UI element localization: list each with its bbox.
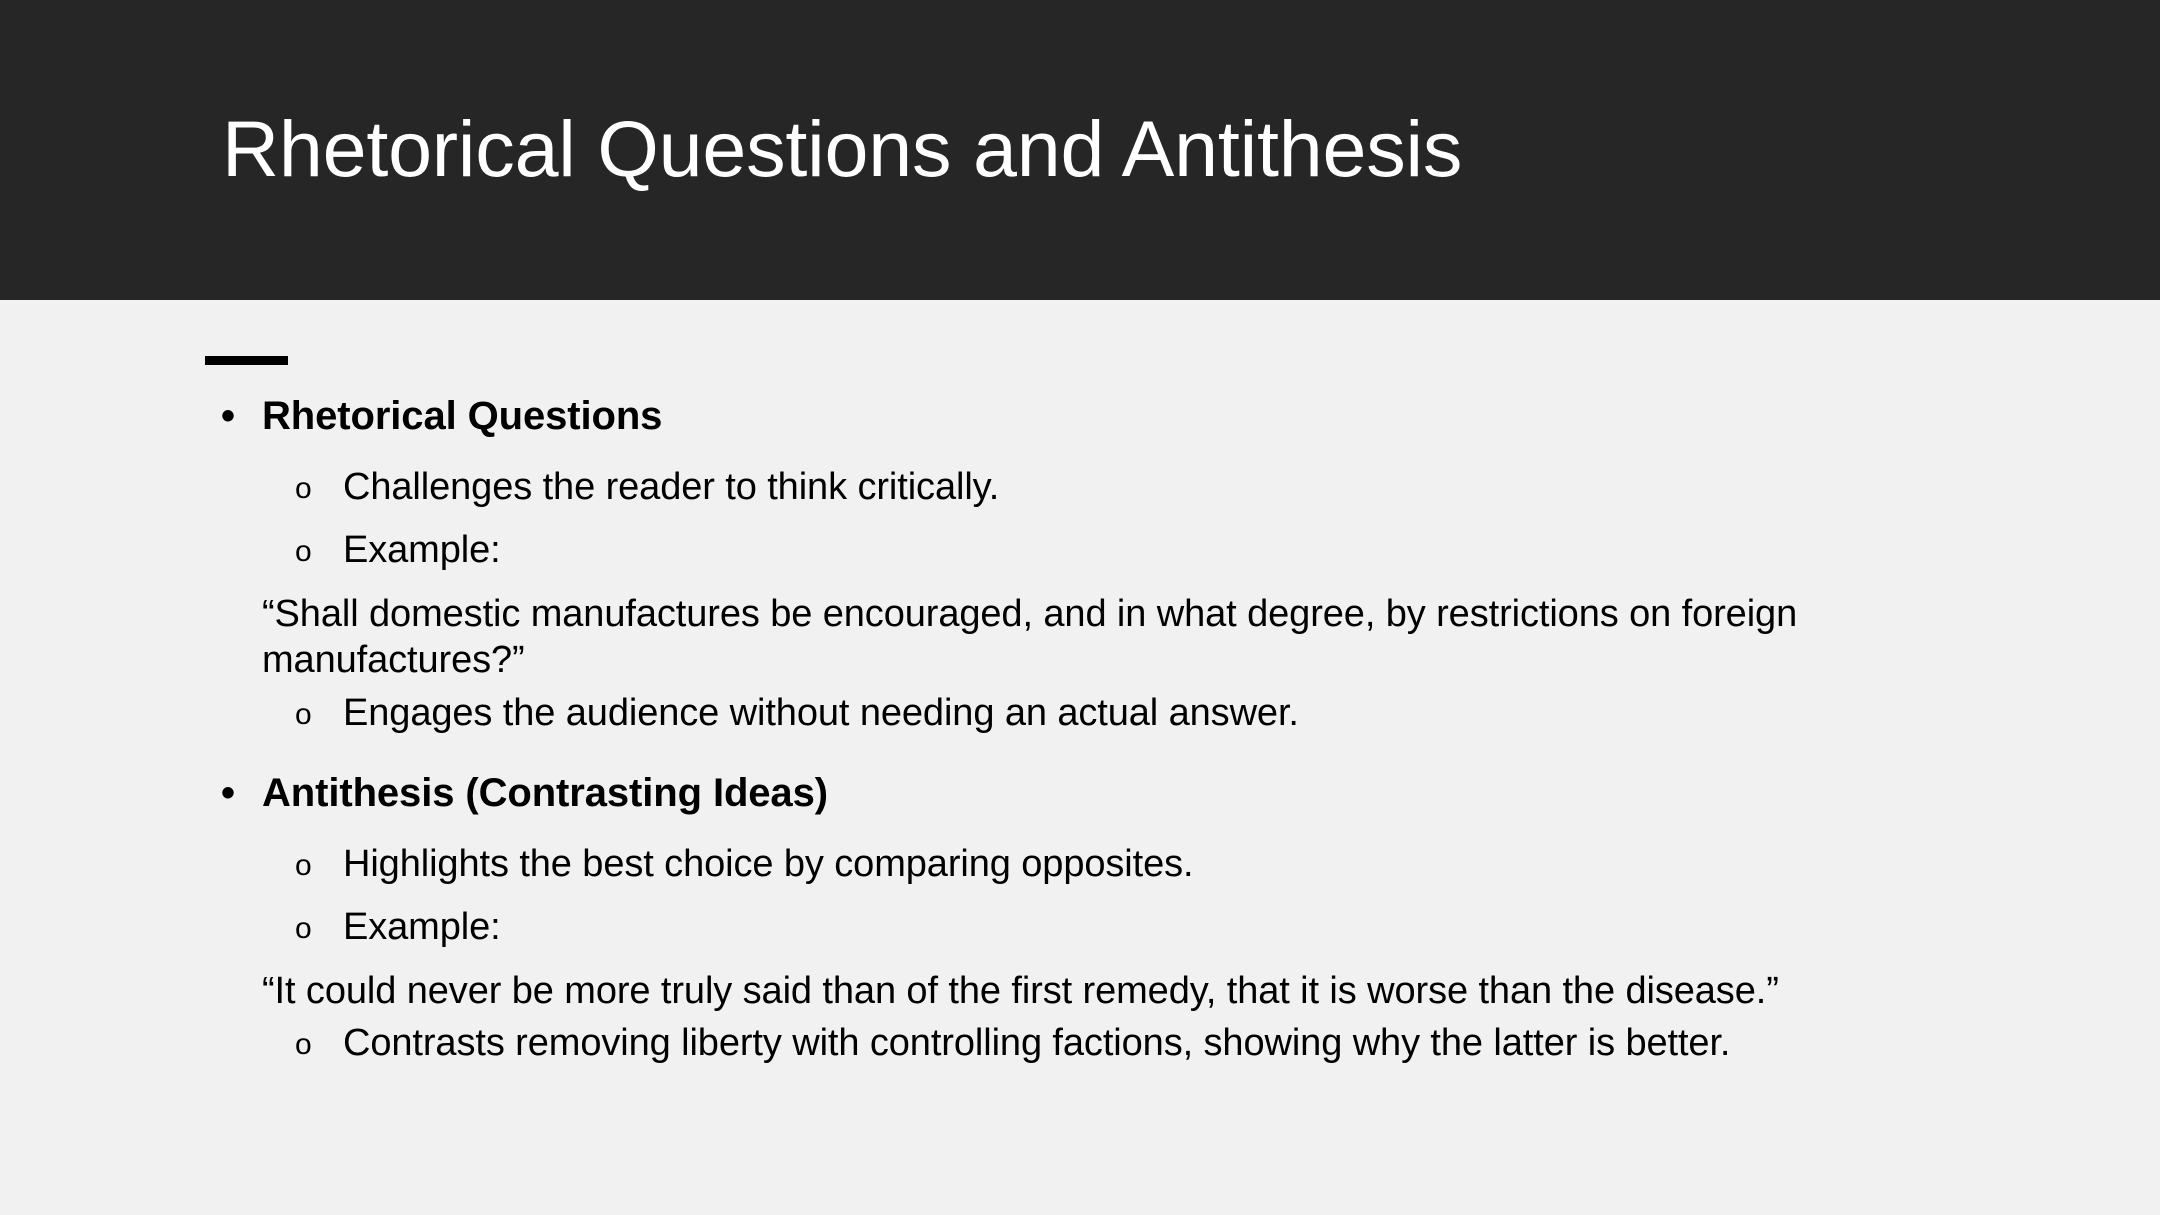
bullet-label: Highlights the best choice by comparing … <box>343 843 1193 885</box>
bullet-item-level2: o Highlights the best choice by comparin… <box>0 841 2160 899</box>
quotation-text: “It could never be more truly said than … <box>0 968 2160 1014</box>
bullet-label: Example: <box>343 529 501 571</box>
bullet-circle-icon: o <box>295 843 312 888</box>
bullet-circle-icon: o <box>295 692 312 737</box>
bullet-item-level2: o Example: <box>0 527 2160 585</box>
bullet-label: Rhetorical Questions <box>262 394 662 438</box>
bullet-item-level1: • Antithesis (Contrasting Ideas) <box>0 769 2160 827</box>
bullet-dot-icon: • <box>221 769 235 818</box>
bullet-label: Challenges the reader to think criticall… <box>343 466 999 508</box>
bullet-label: Antithesis (Contrasting Ideas) <box>262 771 828 815</box>
bullet-item-level2: o Contrasts removing liberty with contro… <box>0 1020 2160 1078</box>
bullet-dot-icon: • <box>221 392 235 441</box>
slide-body: • Rhetorical Questions o Challenges the … <box>0 392 2160 1083</box>
bullet-item-level1: • Rhetorical Questions <box>0 392 2160 450</box>
bullet-circle-icon: o <box>295 1022 312 1067</box>
quotation-text: “Shall domestic manufactures be encourag… <box>0 591 2160 684</box>
bullet-item-level2: o Example: <box>0 904 2160 962</box>
bullet-label: Contrasts removing liberty with controll… <box>343 1022 1730 1064</box>
bullet-item-level2: o Challenges the reader to think critica… <box>0 464 2160 522</box>
accent-rule <box>205 356 288 365</box>
bullet-label: Engages the audience without needing an … <box>343 692 1299 734</box>
bullet-circle-icon: o <box>295 906 312 951</box>
bullet-circle-icon: o <box>295 529 312 574</box>
title-band: Rhetorical Questions and Antithesis <box>0 0 2160 300</box>
bullet-label: Example: <box>343 906 501 948</box>
bullet-circle-icon: o <box>295 466 312 511</box>
bullet-item-level2: o Engages the audience without needing a… <box>0 690 2160 748</box>
page-title: Rhetorical Questions and Antithesis <box>222 108 1462 191</box>
slide: Rhetorical Questions and Antithesis • Rh… <box>0 0 2160 1215</box>
